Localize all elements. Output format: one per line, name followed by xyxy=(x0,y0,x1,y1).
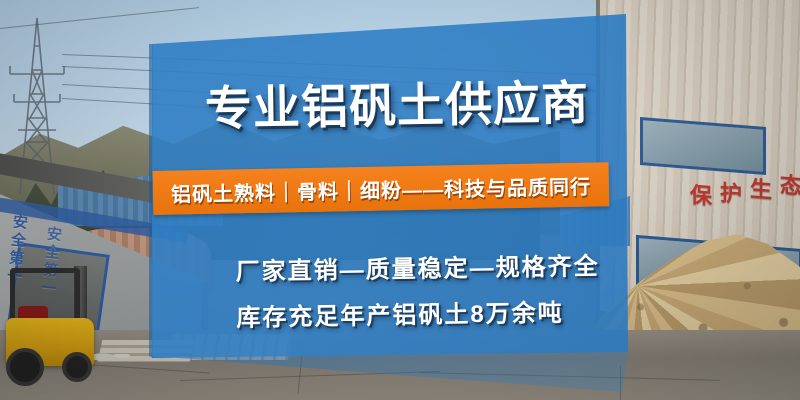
forklift-wheel xyxy=(62,352,92,382)
subtitle-group: 厂家直销—质量稳定—规格齐全 库存充足年产铝矾土8万余吨 xyxy=(235,255,600,331)
right-building-window xyxy=(640,117,766,175)
tagline-banner: 铝矾土熟料｜骨料｜细粉——科技与品质同行 xyxy=(153,162,610,215)
promo-banner: 安全第一 安全第一 保 护 生 态 xyxy=(0,0,800,400)
right-building-sign-char: 保 xyxy=(690,177,712,211)
subtitle-line-2: 库存充足年产铝矾土8万余吨 xyxy=(236,301,600,331)
subtitle-line-1: 厂家直销—质量稳定—规格齐全 xyxy=(235,255,599,285)
forklift-wheel xyxy=(6,348,44,386)
right-building-sign-char: 护 xyxy=(720,175,742,209)
right-building-sign-char: 生 xyxy=(750,171,772,205)
right-building-sign-char: 态 xyxy=(780,167,800,201)
page-title: 专业铝矾土供应商 xyxy=(205,79,590,132)
tagline-text: 铝矾土熟料｜骨料｜细粉——科技与品质同行 xyxy=(153,162,610,215)
